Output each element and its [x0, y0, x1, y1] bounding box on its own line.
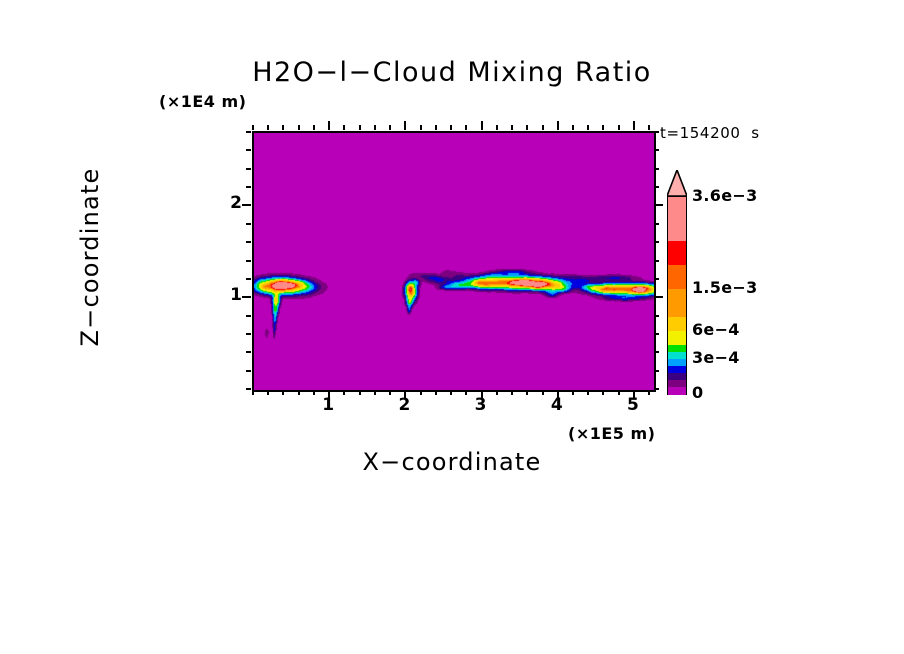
x-axis-tick: [572, 390, 574, 395]
x-axis-tick: [496, 125, 498, 130]
y-tick-label: 1: [218, 285, 242, 305]
x-axis-tick: [267, 125, 269, 130]
y-axis-tick: [246, 351, 251, 353]
y-axis-tick: [246, 149, 251, 151]
x-axis-tick: [618, 125, 620, 130]
x-axis-tick: [587, 125, 589, 130]
x-axis-tick: [298, 125, 300, 130]
x-axis-tick: [282, 125, 284, 130]
x-axis-tick: [435, 390, 437, 395]
y-axis-tick: [654, 223, 659, 225]
x-axis-tick: [542, 125, 544, 130]
x-axis-tick: [343, 390, 345, 395]
colorbar-bands: [667, 196, 687, 395]
colorbar-segment: [668, 331, 686, 346]
colorbar-segment: [668, 289, 686, 318]
x-tick-label: 4: [542, 395, 572, 415]
y-axis-tick: [246, 388, 251, 390]
y-axis-title: Z−coordinate: [76, 107, 104, 407]
x-axis-tick: [450, 125, 452, 130]
y-axis-tick: [654, 388, 659, 390]
x-axis-title: X−coordinate: [252, 448, 652, 476]
x-axis-tick: [252, 125, 254, 130]
x-axis-tick: [420, 390, 422, 395]
x-axis-tick: [374, 390, 376, 395]
figure-canvas: H2O−l−Cloud Mixing Ratio (×1E4 m) t=1542…: [0, 0, 904, 654]
x-tick-label: 1: [313, 395, 343, 415]
x-axis-tick: [511, 390, 513, 395]
colorbar-tick-label: 1.5e−3: [692, 278, 758, 297]
x-axis-tick: [526, 390, 528, 395]
x-axis-tick: [404, 121, 406, 130]
colorbar-segment: [668, 265, 686, 290]
x-axis-tick: [267, 390, 269, 395]
x-axis-tick: [648, 390, 650, 395]
y-axis-tick: [246, 260, 251, 262]
y-axis-tick: [654, 351, 659, 353]
contour-field: [254, 133, 654, 390]
time-annotation: t=154200 s: [660, 124, 760, 142]
y-axis-tick: [654, 296, 663, 298]
x-axis-tick: [282, 390, 284, 395]
x-axis-tick: [328, 121, 330, 130]
y-axis-tick: [246, 131, 251, 133]
colorbar-segment: [668, 317, 686, 332]
colorbar-tick-label: 0: [692, 383, 703, 402]
colorbar-tick-label: 6e−4: [692, 320, 740, 339]
x-axis-tick: [359, 125, 361, 130]
y-axis-tick: [654, 370, 659, 372]
colorbar-segment: [668, 197, 686, 242]
y-axis-tick: [654, 186, 659, 188]
x-tick-label: 5: [618, 395, 648, 415]
y-axis-tick: [654, 168, 659, 170]
y-axis-tick: [246, 370, 251, 372]
x-axis-tick: [450, 390, 452, 395]
x-tick-label: 2: [389, 395, 419, 415]
page-title: H2O−l−Cloud Mixing Ratio: [0, 57, 904, 88]
x-axis-tick: [496, 390, 498, 395]
x-axis-tick: [252, 390, 254, 395]
x-axis-tick: [602, 125, 604, 130]
y-axis-tick: [242, 296, 251, 298]
x-axis-tick: [587, 390, 589, 395]
x-axis-tick: [648, 125, 650, 130]
colorbar-arrow-outline-icon: [667, 170, 687, 196]
x-axis-tick: [298, 390, 300, 395]
y-axis-tick: [246, 168, 251, 170]
colorbar-segment: [668, 387, 686, 395]
y-axis-tick: [246, 241, 251, 243]
y-axis-tick: [246, 186, 251, 188]
x-axis-tick: [511, 125, 513, 130]
plot-area: [252, 131, 656, 392]
colorbar-segment: [668, 241, 686, 266]
y-axis-tick: [246, 223, 251, 225]
x-axis-tick: [572, 125, 574, 130]
y-axis-tick: [654, 241, 659, 243]
x-axis-unit-label: (×1E5 m): [568, 424, 655, 443]
y-axis-tick: [654, 260, 659, 262]
y-axis-tick: [654, 333, 659, 335]
y-axis-tick: [654, 278, 659, 280]
x-axis-tick: [374, 125, 376, 130]
y-axis-tick: [246, 315, 251, 317]
y-axis-tick: [242, 204, 251, 206]
x-axis-tick: [343, 125, 345, 130]
x-axis-tick: [557, 121, 559, 130]
x-axis-tick: [465, 125, 467, 130]
x-axis-tick: [359, 390, 361, 395]
y-axis-tick: [654, 315, 659, 317]
y-axis-tick: [246, 278, 251, 280]
y-axis-unit-label: (×1E4 m): [159, 92, 246, 111]
y-axis-tick: [654, 204, 663, 206]
y-tick-label: 2: [218, 193, 242, 213]
x-axis-tick: [313, 125, 315, 130]
x-axis-tick: [389, 125, 391, 130]
x-axis-tick: [435, 125, 437, 130]
colorbar-tick-label: 3e−4: [692, 348, 740, 367]
x-axis-tick: [526, 125, 528, 130]
colorbar-tick-label: 3.6e−3: [692, 186, 758, 205]
x-tick-label: 3: [466, 395, 496, 415]
x-axis-tick: [420, 125, 422, 130]
x-axis-tick: [602, 390, 604, 395]
x-axis-tick: [481, 121, 483, 130]
x-axis-tick: [633, 121, 635, 130]
y-axis-tick: [654, 131, 659, 133]
y-axis-tick: [654, 149, 659, 151]
y-axis-tick: [246, 333, 251, 335]
